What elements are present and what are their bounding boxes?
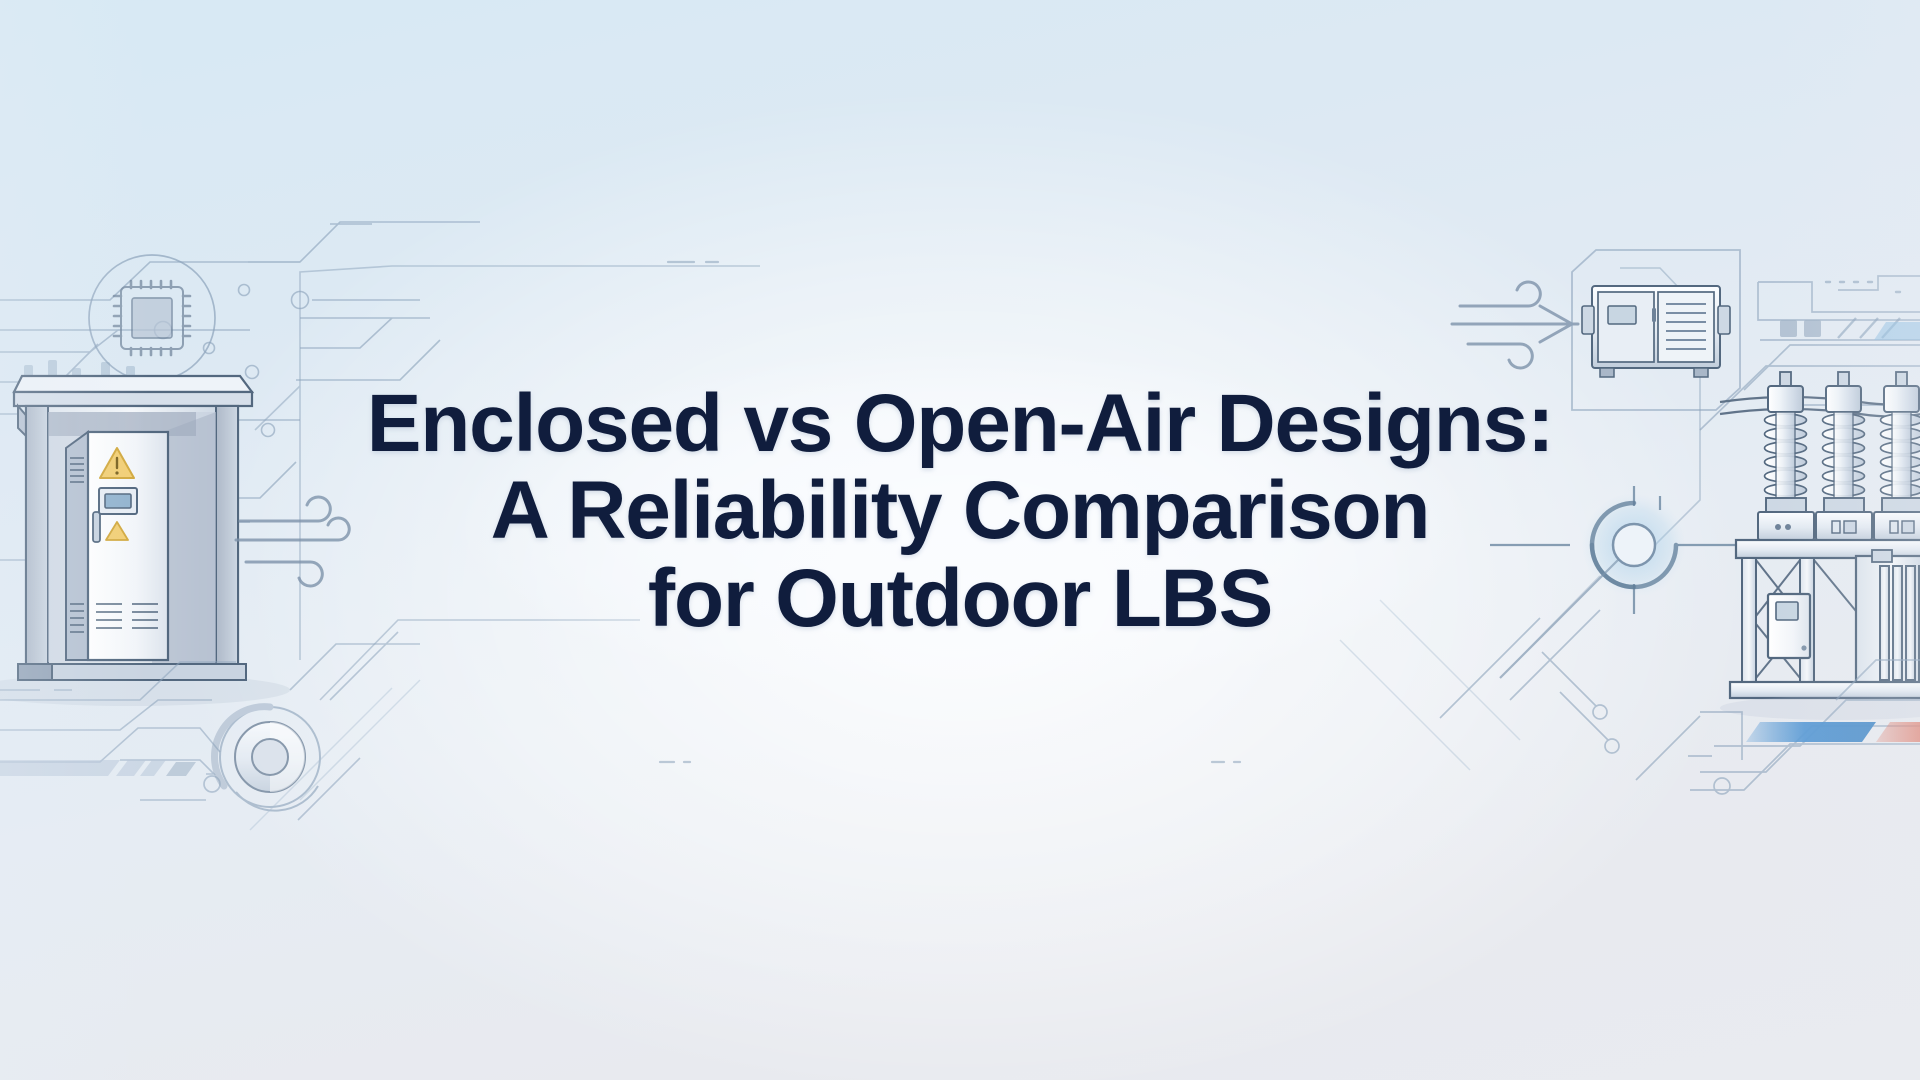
- accent-bar-group-left: [0, 760, 196, 776]
- data-bar-motif: [1746, 722, 1920, 742]
- circuit-trace-group-lower-left: [0, 632, 420, 820]
- hero-title-line-3: for Outdoor LBS: [0, 557, 1920, 641]
- hero-banner: Enclosed vs Open-Air Designs: A Reliabil…: [0, 0, 1920, 1080]
- base-rail: [1730, 682, 1920, 698]
- concrete-plinth: [18, 664, 246, 680]
- dial-gauge-motif: [215, 707, 320, 811]
- hero-title-block: Enclosed vs Open-Air Designs: A Reliabil…: [0, 382, 1920, 641]
- dotted-trace-right: [1826, 282, 1900, 292]
- accent-shape-right-top: [1874, 322, 1920, 340]
- terminal-strip: [1666, 304, 1706, 349]
- slash-detail-right: [1838, 318, 1900, 338]
- hero-title-line-1: Enclosed vs Open-Air Designs:: [0, 382, 1920, 466]
- hero-title-line-2: A Reliability Comparison: [0, 469, 1920, 553]
- cpu-chip-icon: [89, 255, 215, 381]
- airflow-arrow-motif: [1452, 282, 1578, 368]
- pad-group-right: [1780, 320, 1821, 337]
